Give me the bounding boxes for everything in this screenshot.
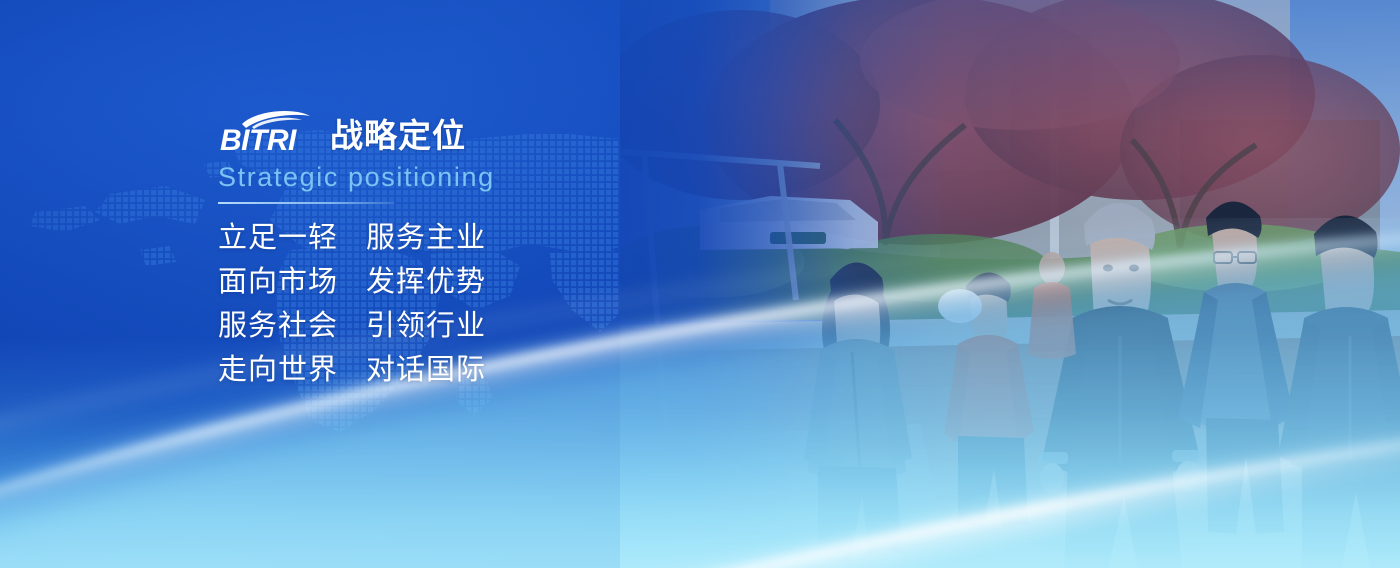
slogan-line: 面向市场 发挥优势: [218, 268, 738, 297]
svg-text:BITRI: BITRI: [220, 124, 297, 154]
banner-title-cn: 战略定位: [330, 119, 466, 152]
slogan-line: 走向世界 对话国际: [218, 356, 738, 385]
slogan-left: 服务社会: [218, 312, 366, 341]
slogan-right: 服务主业: [366, 224, 486, 253]
title-divider: [218, 202, 394, 204]
banner-subtitle-en: Strategic positioning: [218, 163, 738, 193]
banner-text-block: BITRI 战略定位 Strategic positioning 立足一轻 服务…: [218, 108, 738, 385]
slogan-left: 面向市场: [218, 268, 366, 297]
slogan-line: 服务社会 引领行业: [218, 312, 738, 341]
slogan-line: 立足一轻 服务主业: [218, 224, 738, 253]
slogan-list: 立足一轻 服务主业 面向市场 发挥优势 服务社会 引领行业 走向世界 对话国际: [218, 224, 738, 385]
slogan-left: 走向世界: [218, 356, 366, 385]
strategic-positioning-banner: BITRI 战略定位 Strategic positioning 立足一轻 服务…: [0, 0, 1400, 568]
slogan-right: 对话国际: [366, 356, 486, 385]
slogan-left: 立足一轻: [218, 224, 366, 253]
title-row: BITRI 战略定位: [218, 108, 738, 154]
bitri-logo: BITRI: [218, 110, 314, 154]
slogan-right: 引领行业: [366, 312, 486, 341]
slogan-right: 发挥优势: [366, 268, 486, 297]
